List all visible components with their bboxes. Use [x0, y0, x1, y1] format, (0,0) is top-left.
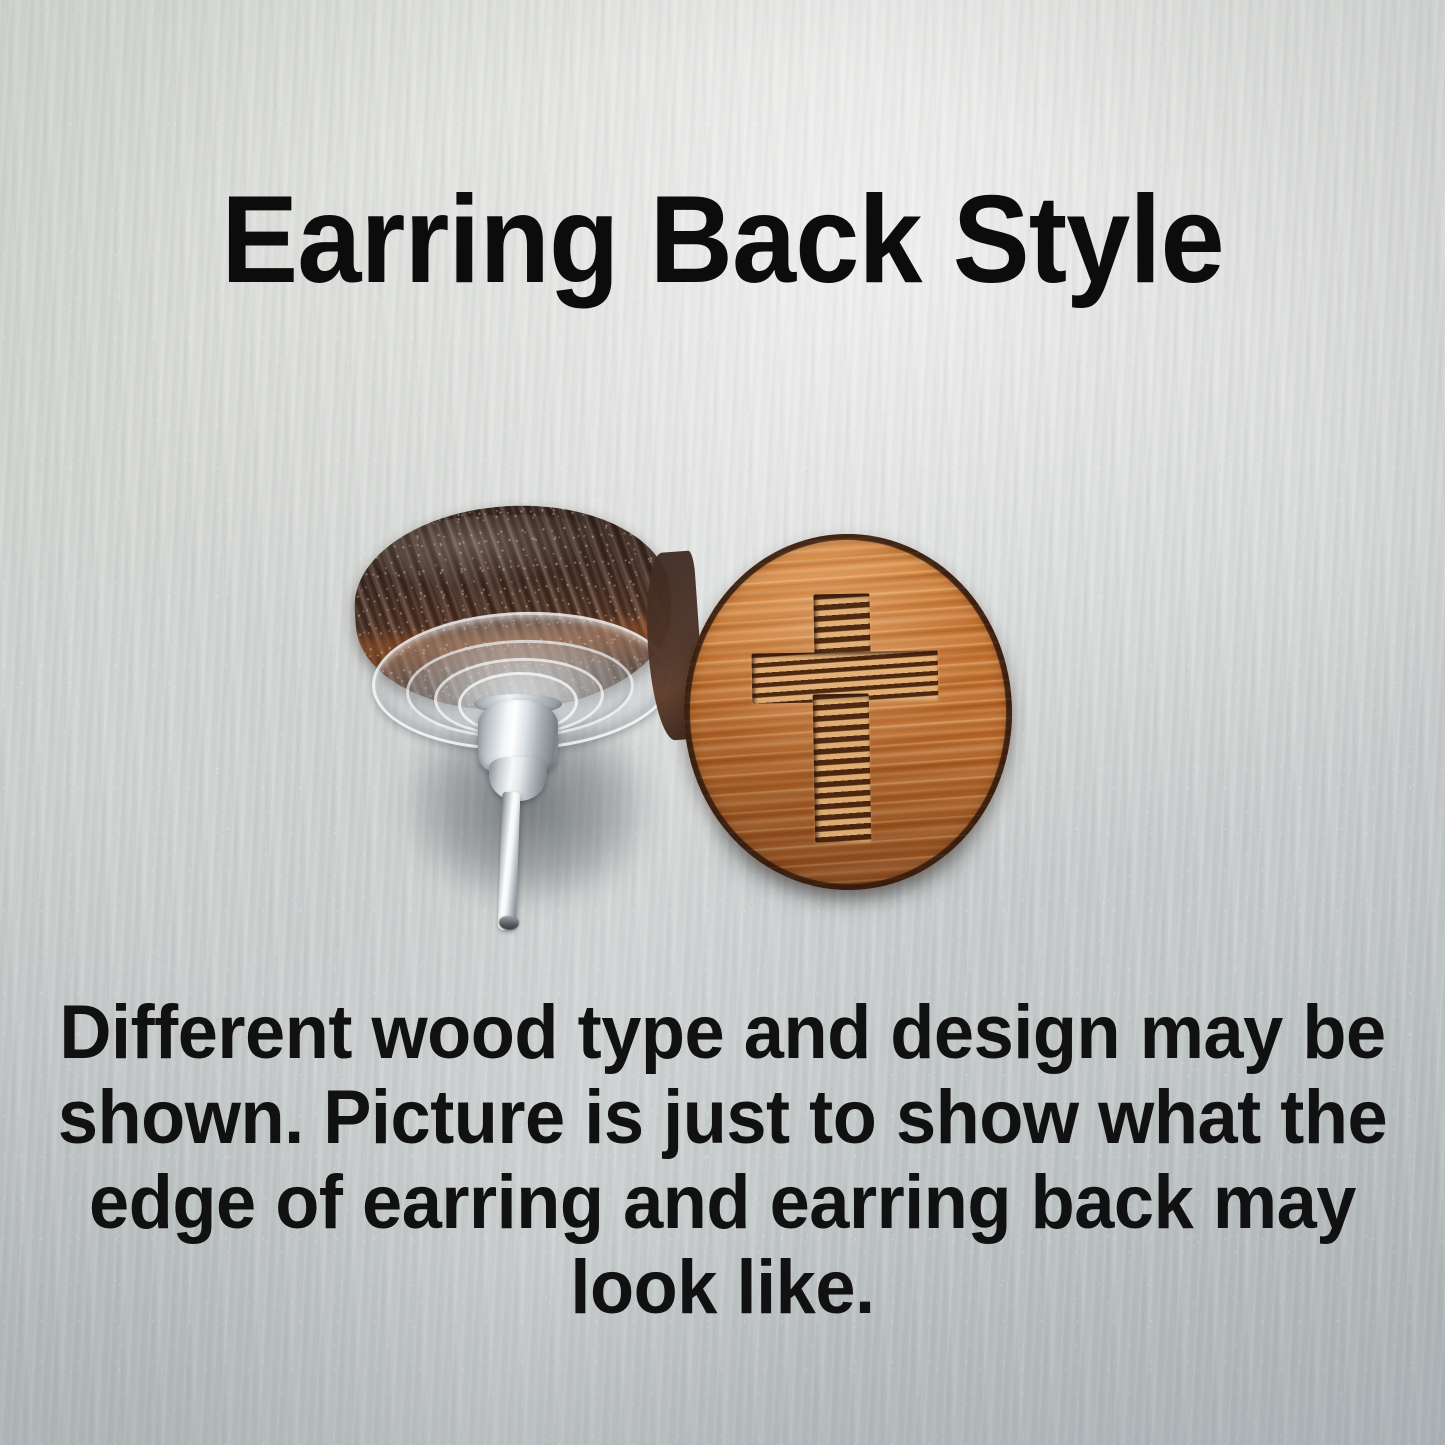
product-info-image: Earring Back Style Different wood type a… [0, 0, 1445, 1445]
cross-engraving-lower-stem [813, 694, 872, 843]
disclaimer-caption: Different wood type and design may be sh… [57, 990, 1388, 1330]
cross-engraving-upper-stem [813, 594, 870, 661]
page-title: Earring Back Style [51, 178, 1395, 302]
